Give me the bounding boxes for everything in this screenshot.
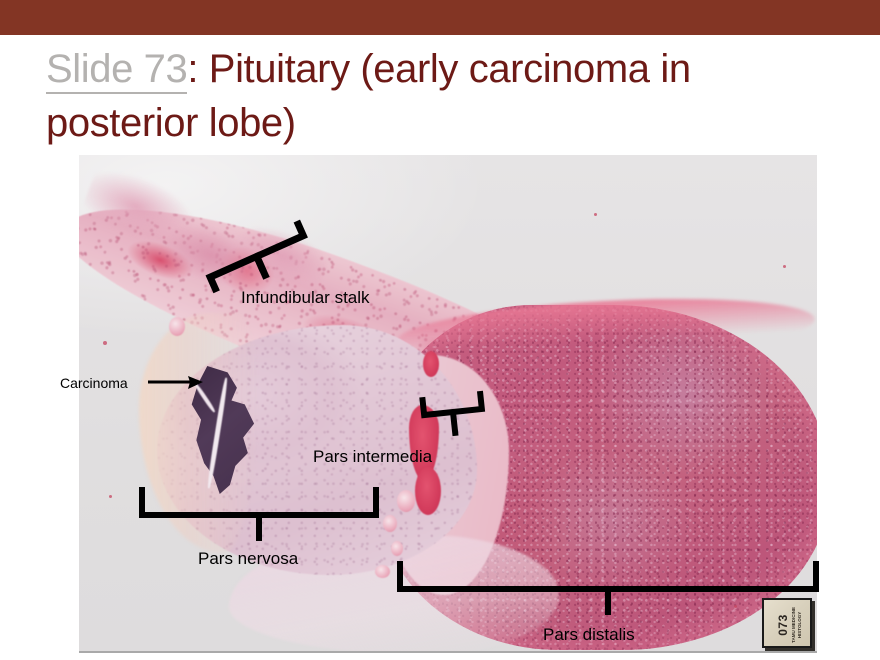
label-pars-intermedia: Pars intermedia [313, 447, 432, 467]
label-infundibular-stalk: Infundibular stalk [241, 288, 370, 308]
tissue-cyst [383, 515, 397, 532]
tissue-speck [103, 341, 107, 345]
tissue-cyst [391, 541, 403, 556]
top-accent-bar [0, 0, 880, 35]
label-pars-distalis: Pars distalis [543, 625, 635, 645]
tissue-cyst [169, 317, 185, 336]
tissue-speck [734, 605, 737, 608]
page-title: Slide 73: Pituitary (early carcinoma in … [46, 42, 836, 150]
tissue-speck [594, 213, 597, 216]
tissue-vessel [423, 351, 439, 377]
tissue-speck [783, 265, 786, 268]
histology-figure: 073 TAMU MEDICINE HISTOLOGY [79, 155, 817, 653]
tissue-vessel [415, 467, 441, 515]
tissue-speck [109, 495, 112, 498]
tissue-cyst [375, 565, 390, 578]
specimen-organization: TAMU MEDICINE HISTOLOGY [791, 604, 807, 646]
slide-number-label: Slide 73 [46, 47, 187, 94]
specimen-id-tag: 073 TAMU MEDICINE HISTOLOGY [762, 598, 812, 648]
tissue-cyst [397, 490, 415, 512]
label-pars-nervosa: Pars nervosa [198, 549, 298, 569]
label-carcinoma: Carcinoma [60, 375, 128, 391]
